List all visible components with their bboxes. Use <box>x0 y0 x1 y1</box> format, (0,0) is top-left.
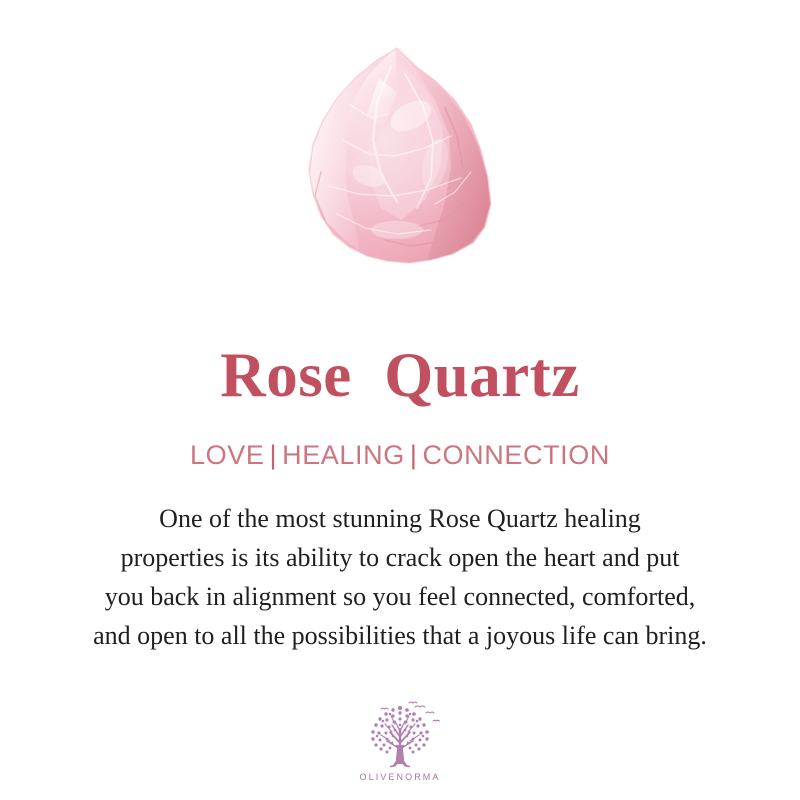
description-paragraph: One of the most stunning Rose Quartz hea… <box>20 469 780 655</box>
brand-logo: OLIVENORMA <box>0 699 800 782</box>
description-line: properties is its ability to crack open … <box>20 538 780 577</box>
description-line: One of the most stunning Rose Quartz hea… <box>20 499 780 538</box>
keyword-separator-2: | <box>405 440 423 470</box>
tree-of-life-icon <box>357 699 443 771</box>
page-title: Rose Quartz <box>220 300 579 407</box>
brand-wordmark: OLIVENORMA <box>359 772 440 782</box>
tree-trunk <box>390 745 410 767</box>
description-line: and open to all the possibilities that a… <box>20 616 780 655</box>
crystal-body <box>285 44 515 284</box>
keyword-healing: HEALING <box>282 440 405 470</box>
poster-canvas: Rose Quartz LOVE|HEALING|CONNECTION One … <box>0 0 800 800</box>
description-line: you back in alignment so you feel connec… <box>20 577 780 616</box>
keyword-separator-1: | <box>264 440 282 470</box>
keyword-love: LOVE <box>190 440 264 470</box>
hero-image-container <box>0 0 800 300</box>
rose-quartz-crystal-image <box>285 44 515 284</box>
keyword-tagline: LOVE|HEALING|CONNECTION <box>190 407 610 469</box>
bird-icons <box>381 702 439 721</box>
keyword-connection: CONNECTION <box>422 440 610 470</box>
